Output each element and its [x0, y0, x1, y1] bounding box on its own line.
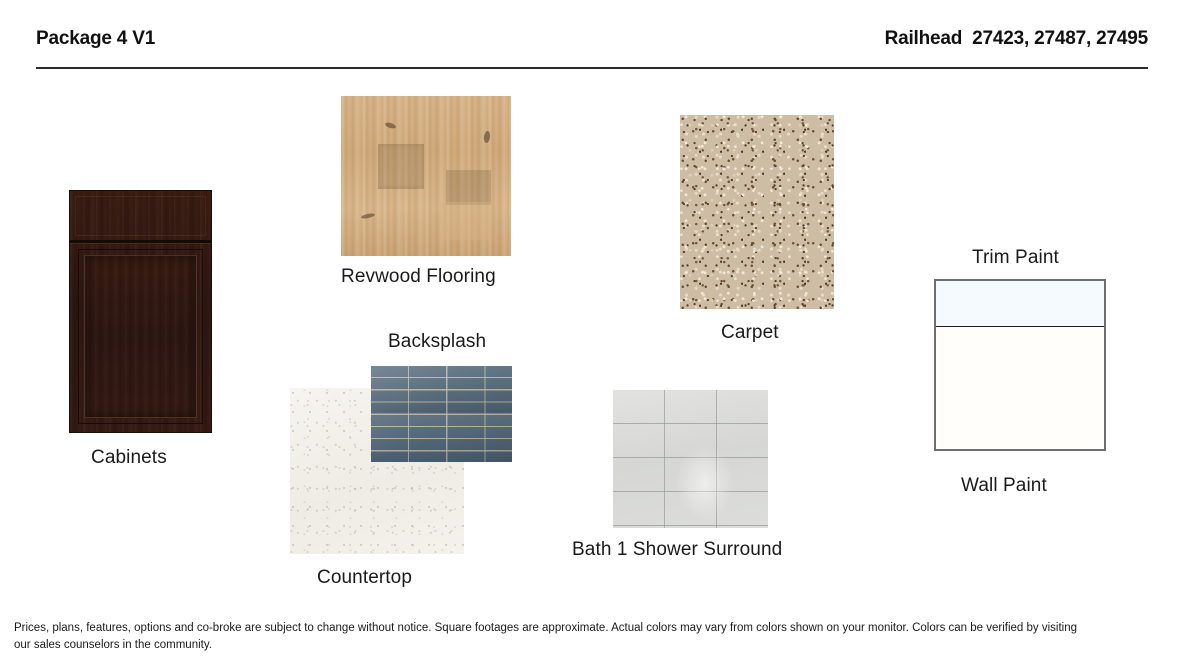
paint-swatch-block — [934, 279, 1106, 451]
flooring-plank-shade-a — [378, 144, 424, 189]
flooring-plank-shade-c — [440, 202, 491, 240]
swatch-label-cabinets: Cabinets — [91, 447, 167, 469]
flooring-plank-shade-b — [446, 170, 490, 205]
page-title: Package 4 V1 — [36, 28, 155, 50]
swatch-label-flooring: Revwood Flooring — [341, 266, 496, 288]
carpet-fiber-texture — [680, 115, 834, 309]
cabinet-drawer-reveal — [70, 240, 211, 243]
cabinet-drawer-front — [75, 196, 206, 236]
swatch-carpet — [680, 115, 834, 309]
legal-disclaimer: Prices, plans, features, options and co-… — [14, 620, 1084, 654]
swatch-label-shower-surround: Bath 1 Shower Surround — [572, 539, 782, 561]
cabinet-recessed-panel — [84, 255, 197, 418]
community-name: Railhead — [885, 28, 963, 49]
backsplash-gloss-sheen — [371, 366, 512, 462]
swatch-label-backsplash: Backsplash — [388, 331, 486, 353]
swatch-flooring — [341, 96, 511, 256]
swatch-trim-paint — [936, 281, 1104, 327]
swatch-wall-paint — [936, 327, 1104, 449]
community-header: Railhead27423, 27487, 27495 — [885, 28, 1148, 50]
swatch-shower-surround — [613, 390, 768, 528]
page-header: Package 4 V1 Railhead27423, 27487, 27495 — [36, 28, 1148, 68]
swatch-backsplash — [371, 366, 512, 462]
header-divider — [36, 67, 1148, 69]
swatch-label-wall-paint: Wall Paint — [961, 475, 1047, 497]
lot-numbers: 27423, 27487, 27495 — [972, 28, 1148, 49]
swatch-label-carpet: Carpet — [721, 322, 779, 344]
swatch-cabinets — [69, 190, 212, 433]
shower-tile-highlight — [675, 445, 734, 521]
swatch-label-trim-paint: Trim Paint — [972, 247, 1059, 269]
swatch-label-countertop: Countertop — [317, 567, 412, 589]
